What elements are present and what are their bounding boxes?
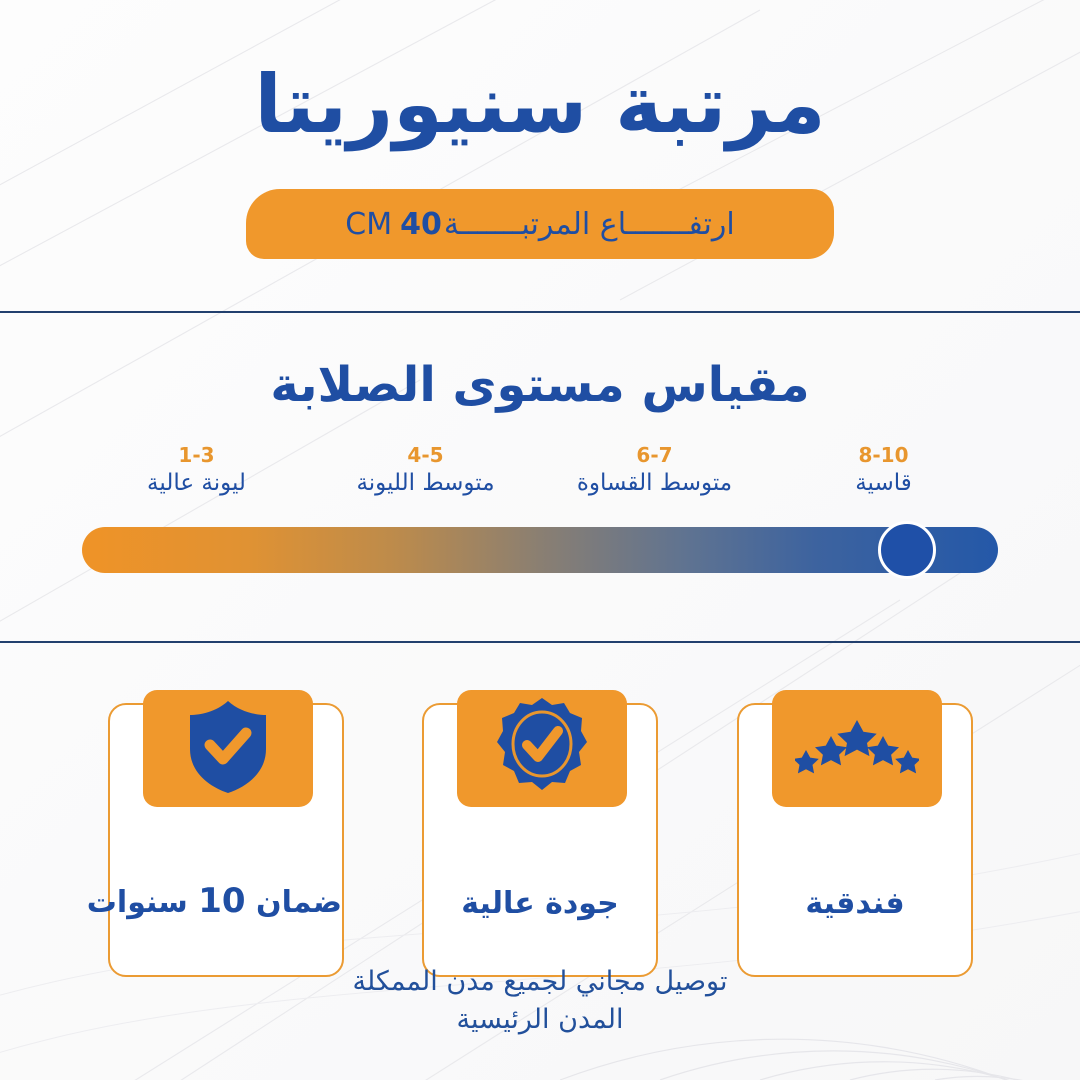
scale-level-range: 4-5: [311, 443, 540, 468]
hardness-scale-title: مقياس مستوى الصلابة: [0, 357, 1080, 413]
warranty-years: 10: [198, 881, 245, 921]
feature-card-label: فندقية: [739, 886, 971, 921]
mattress-height-badge: ارتفـــــــاع المرتبـــــــة 40 CM: [246, 189, 834, 259]
scale-level-range: 6-7: [540, 443, 769, 468]
shield-check-icon: [186, 699, 270, 799]
height-badge-label: ارتفـــــــاع المرتبـــــــة: [444, 207, 735, 242]
feature-card-label: جودة عالية: [424, 886, 656, 921]
scale-level-label: ليونة عالية: [82, 468, 311, 499]
height-badge-unit: CM: [345, 207, 392, 242]
hardness-slider[interactable]: [82, 521, 998, 579]
feature-card-label: ضمان 10 سنوات: [110, 881, 342, 921]
hardness-slider-knob[interactable]: [878, 521, 936, 579]
scale-level-label: متوسط القساوة: [540, 468, 769, 499]
scale-level-label: متوسط الليونة: [311, 468, 540, 499]
scale-level-label: قاسية: [769, 468, 998, 499]
hardness-scale-section: مقياس مستوى الصلابة 8-10 قاسية 6-7 متوسط…: [0, 313, 1080, 641]
warranty-icon-tile: [143, 690, 313, 807]
hotel-grade-icon-tile: [772, 690, 942, 807]
delivery-note-line2: المدن الرئيسية: [0, 1001, 1080, 1039]
quality-icon-tile: [457, 690, 627, 807]
hardness-scale-labels: 8-10 قاسية 6-7 متوسط القساوة 4-5 متوسط ا…: [82, 443, 998, 499]
page-title: مرتبة سنيوريتا: [0, 58, 1080, 152]
warranty-suffix: سنوات: [87, 885, 188, 920]
scale-level-2: 4-5 متوسط الليونة: [311, 443, 540, 499]
hardness-gradient-track[interactable]: [82, 527, 998, 573]
scale-level-1: 1-3 ليونة عالية: [82, 443, 311, 499]
scale-level-3: 6-7 متوسط القساوة: [540, 443, 769, 499]
delivery-note-line1: توصيل مجاني لجميع مدن الممكلة: [0, 963, 1080, 1001]
quality-badge-check-icon: [496, 697, 588, 801]
delivery-note: توصيل مجاني لجميع مدن الممكلة المدن الرئ…: [0, 963, 1080, 1040]
scale-level-4: 8-10 قاسية: [769, 443, 998, 499]
warranty-prefix: ضمان: [256, 885, 342, 920]
five-stars-arc-icon: [795, 716, 919, 782]
height-badge-value: 40: [400, 207, 442, 242]
header-section: مرتبة سنيوريتا ارتفـــــــاع المرتبـــــ…: [0, 0, 1080, 311]
scale-level-range: 8-10: [769, 443, 998, 468]
scale-level-range: 1-3: [82, 443, 311, 468]
